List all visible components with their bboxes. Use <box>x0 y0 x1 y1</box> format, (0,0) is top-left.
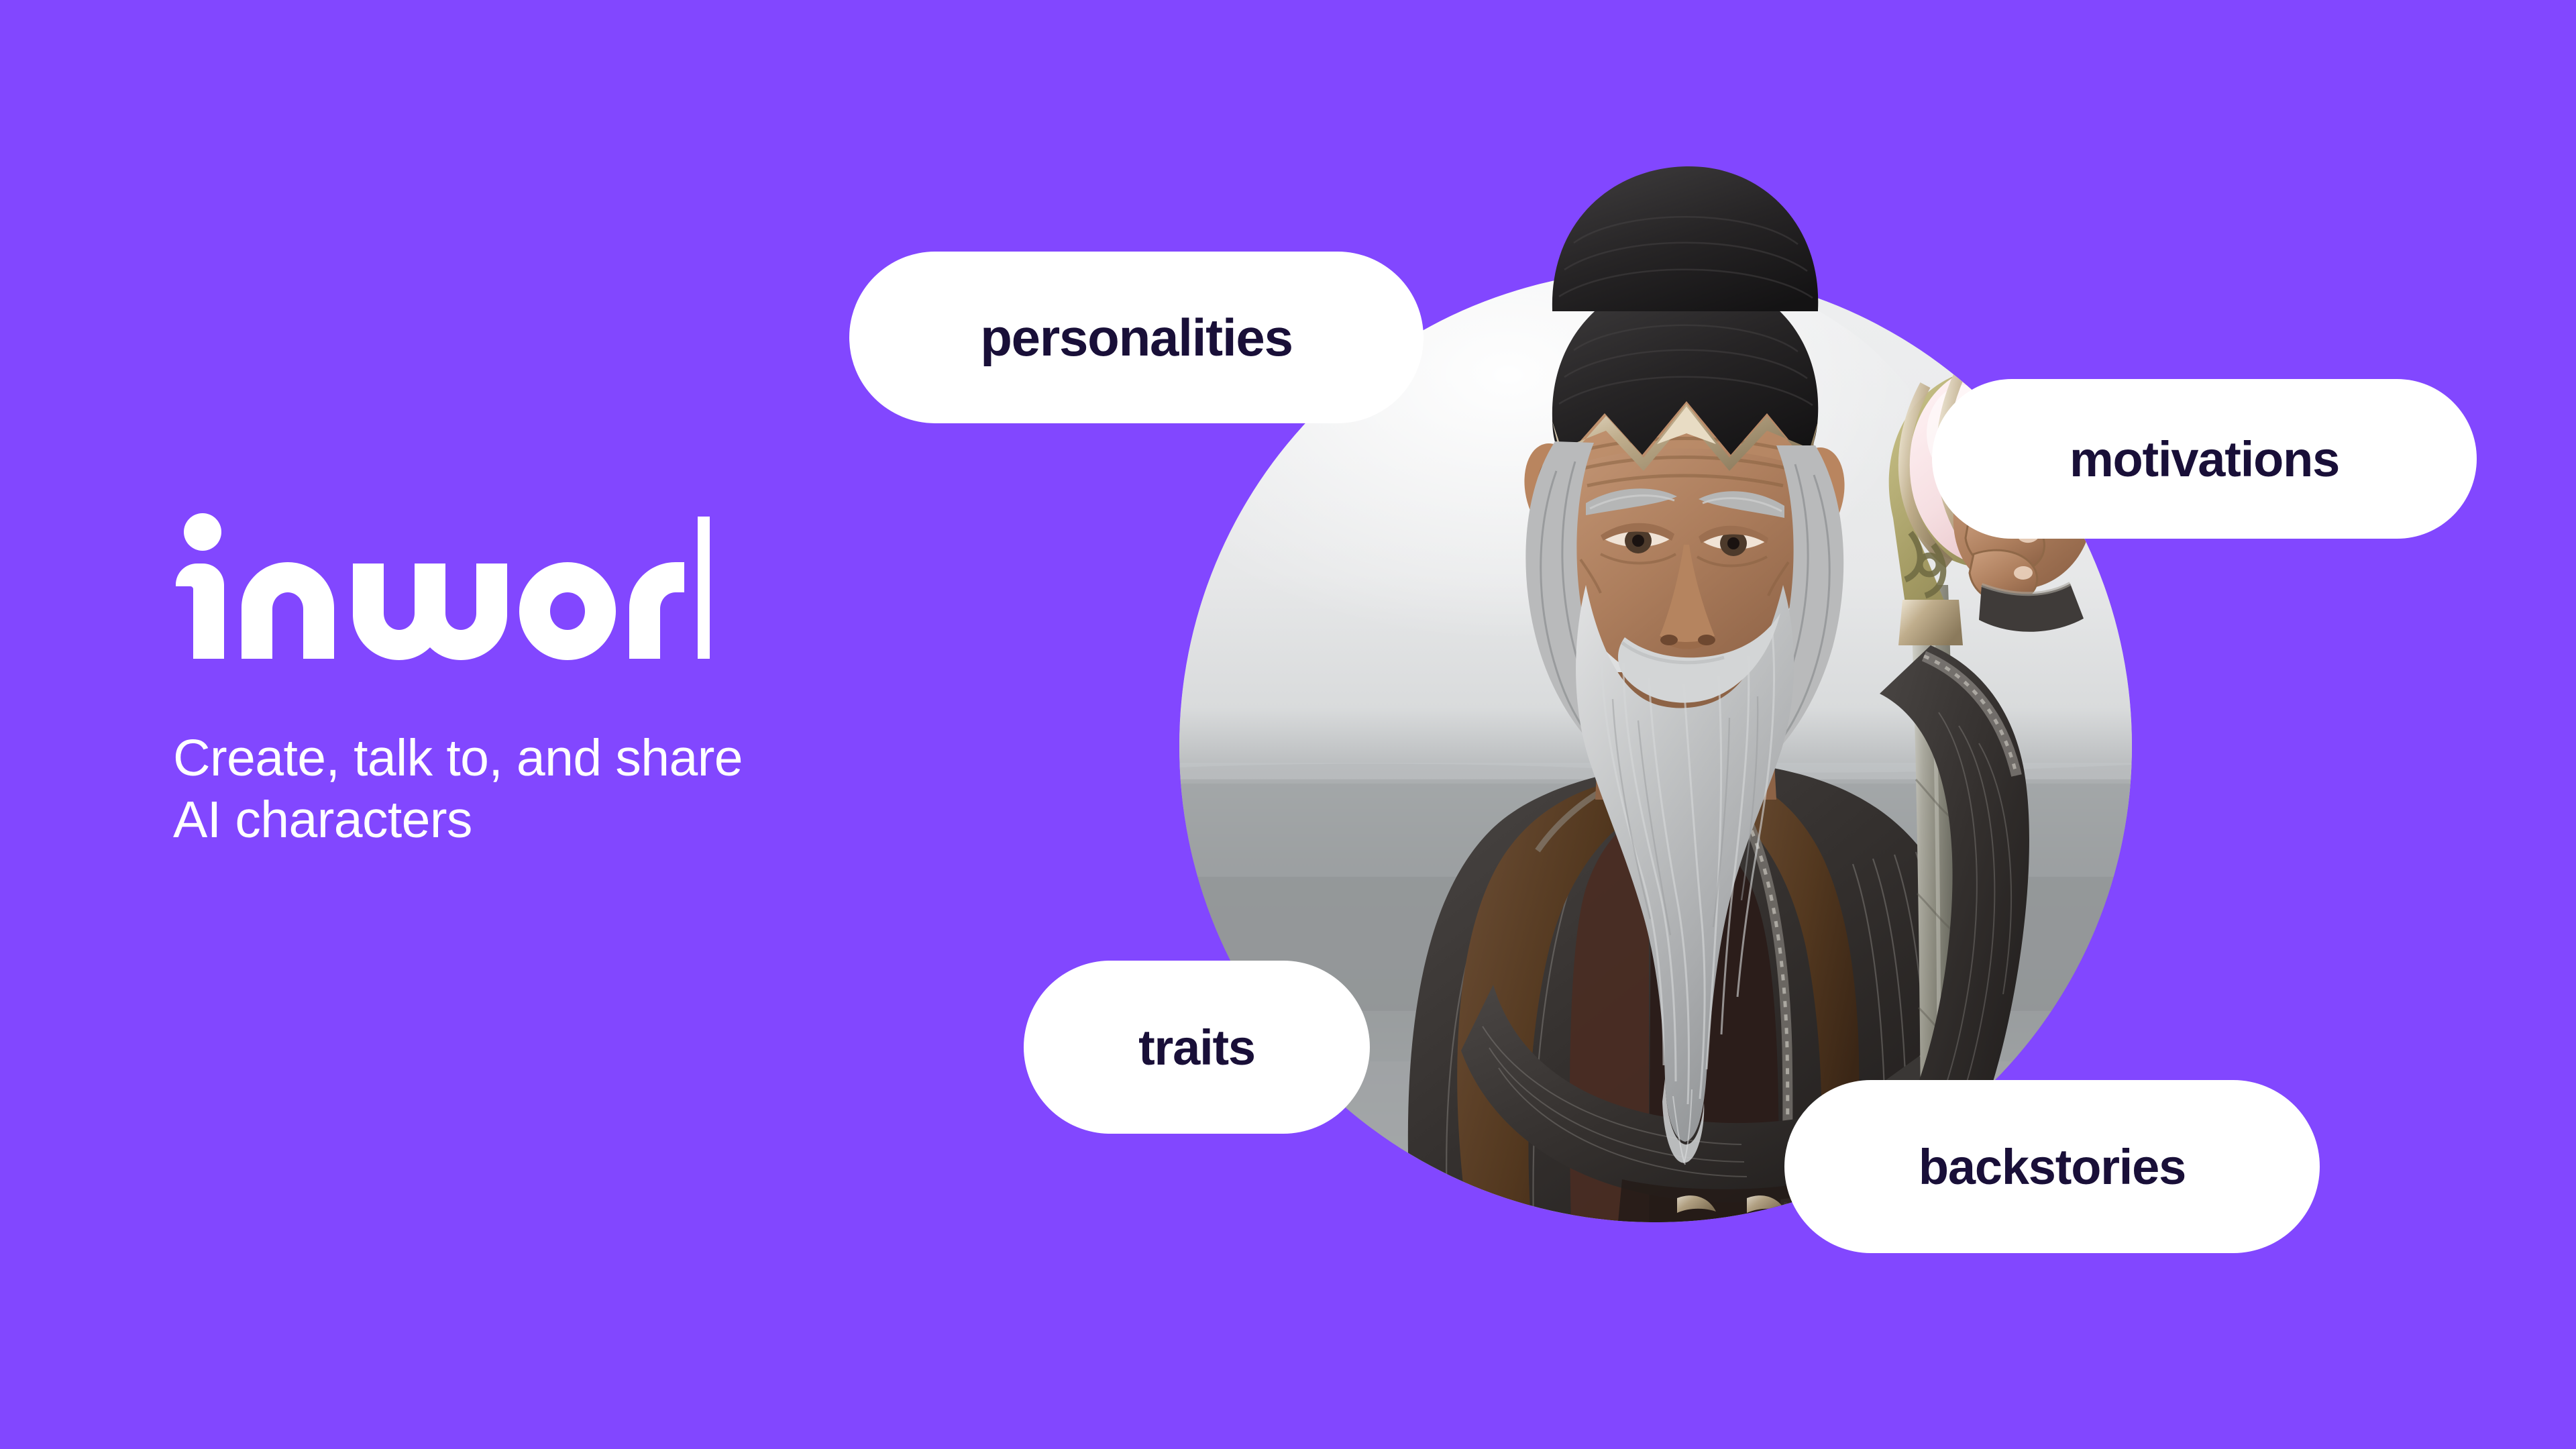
brand-block: Create, talk to, and share AI characters <box>173 510 945 851</box>
pill-traits[interactable]: traits <box>1024 961 1370 1134</box>
tagline: Create, talk to, and share AI characters <box>173 728 945 851</box>
tagline-line-1: Create, talk to, and share <box>173 728 945 790</box>
tagline-line-2: AI characters <box>173 790 945 851</box>
inworld-wordmark-icon <box>173 510 710 664</box>
pill-backstories[interactable]: backstories <box>1784 1080 2320 1253</box>
pill-personalities[interactable]: personalities <box>849 252 1424 423</box>
pill-motivations[interactable]: motivations <box>1932 379 2477 539</box>
inworld-logo[interactable] <box>173 510 710 664</box>
hero-banner: Create, talk to, and share AI characters… <box>0 0 2576 1449</box>
